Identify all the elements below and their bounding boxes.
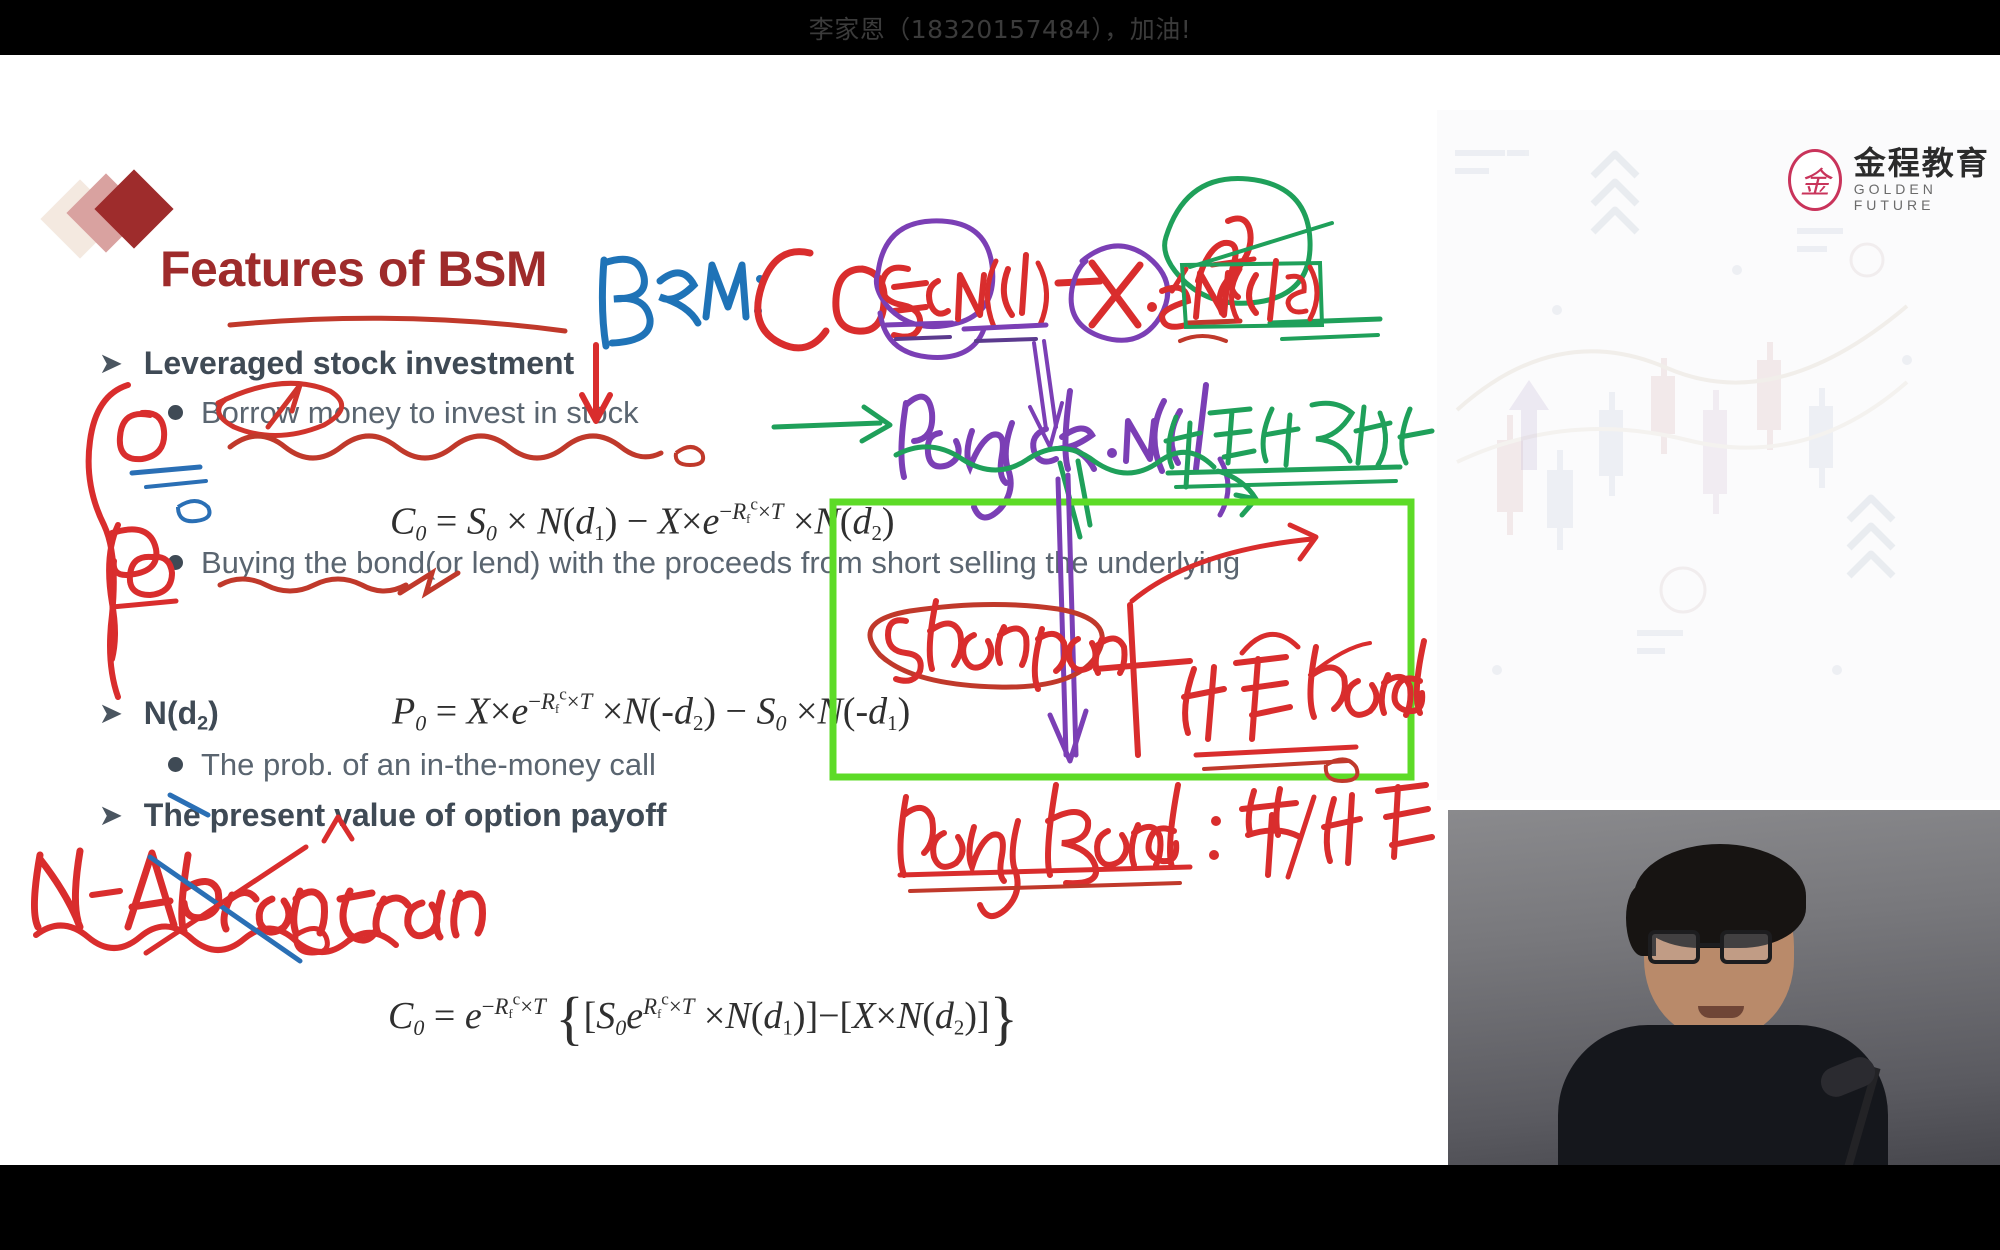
right-decorative-graphic xyxy=(1437,110,2000,800)
brand-name-en: GOLDEN FUTURE xyxy=(1854,181,2000,213)
diamond-decoration xyxy=(52,175,172,260)
bullet-arrow-icon: ➤ xyxy=(100,698,122,729)
bullet-borrow: Borrow money to invest in stock xyxy=(168,395,639,431)
top-banner: 李家恩（18320157484），加油! xyxy=(0,0,2000,55)
formula-put: P0 = X×e−Rfc×T ×N(-d2) − S0 ×N(-d1) xyxy=(392,685,910,737)
bullet-leveraged: ➤Leveraged stock investment xyxy=(100,345,574,382)
brand-name-cn: 金程教育 xyxy=(1854,147,2000,181)
bullet-prob: The prob. of an in-the-money call xyxy=(168,747,656,783)
bullet-dot-icon xyxy=(168,757,183,772)
bullet-pv-label: The present value of option payoff xyxy=(144,797,667,833)
glasses-bridge-icon xyxy=(1700,943,1720,947)
screen-root: 李家恩（18320157484），加油! Features of BSM ➤Le… xyxy=(0,0,2000,1250)
bullet-arrow-icon: ➤ xyxy=(100,348,122,379)
bullet-leveraged-label: Leveraged stock investment xyxy=(144,345,574,381)
bullet-buying-label: Buying the bond(or lend) with the procee… xyxy=(201,545,1240,580)
formula-call: C0 = S0 × N(d1) − X×e−Rfc×T ×N(d2) xyxy=(390,495,895,547)
slide-canvas: Features of BSM ➤Leveraged stock investm… xyxy=(0,55,2000,1165)
formula-call-pv: C0 = e−Rfc×T {[S0eRfc×T ×N(d1)]−[X×N(d2)… xyxy=(388,985,1018,1053)
bullet-buying: Buying the bond(or lend) with the procee… xyxy=(168,545,1240,581)
bullet-nd2: ➤N(d2) xyxy=(100,695,219,736)
footer-slogan: 专业 · 创新 · 增值 xyxy=(1155,1160,1411,1165)
bullet-borrow-label: Borrow money to invest in stock xyxy=(201,395,639,430)
bullet-dot-icon xyxy=(168,555,183,570)
bullet-arrow-icon: ➤ xyxy=(100,800,122,831)
presenter-webcam-video[interactable] xyxy=(1448,810,2000,1165)
bullet-prob-label: The prob. of an in-the-money call xyxy=(201,747,656,782)
bullet-pv: ➤The present value of option payoff xyxy=(100,797,667,834)
brand-logo: 金 金程教育 GOLDEN FUTURE xyxy=(1788,147,2000,213)
presenter-mouth xyxy=(1698,1006,1744,1018)
bullet-dot-icon xyxy=(168,405,183,420)
glasses-left-lens-icon xyxy=(1648,930,1700,964)
page-title: Features of BSM xyxy=(160,240,547,298)
glasses-right-lens-icon xyxy=(1720,930,1772,964)
brand-seal-icon: 金 xyxy=(1788,149,1842,211)
banner-text: 李家恩（18320157484），加油! xyxy=(809,10,1192,46)
bullet-nd2-label: N(d2) xyxy=(144,695,219,731)
